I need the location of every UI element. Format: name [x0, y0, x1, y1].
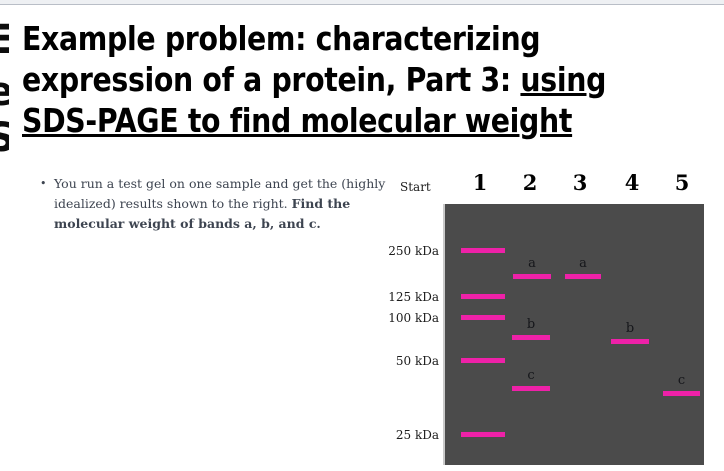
title-line-3: SDS-PAGE to find molecular weight: [22, 100, 615, 141]
slide-canvas: E e S • Example problem: characterizing …: [0, 6, 724, 471]
band-letter-b-lane4: b: [611, 322, 649, 335]
window-top-strip: [0, 0, 724, 5]
sliver-mark-2: e: [0, 72, 9, 112]
sds-page-gel-figure: Start 1 2 3 4 5 250 kDa 125 kDa 100 kDa …: [386, 166, 716, 466]
band-letter-c-lane2: c: [512, 369, 550, 382]
sample-band-c-lane5: [663, 391, 700, 396]
ladder-label-25kda: 25 kDa: [396, 429, 439, 441]
ladder-label-125kda: 125 kDa: [388, 291, 439, 303]
ladder-band-250kda: [461, 248, 505, 253]
slide-title: Example problem: characterizing expressi…: [22, 18, 615, 141]
lane-number-1: 1: [467, 170, 493, 196]
adjacent-slide-sliver: E e S •: [0, 6, 9, 471]
title-line-3-underlined: SDS-PAGE to find molecular weight: [22, 101, 572, 140]
sample-band-c-lane2: [512, 386, 550, 391]
sample-band-b-lane4: [611, 339, 649, 344]
sample-band-b-lane2: [512, 335, 550, 340]
lane-number-row: 1 2 3 4 5: [443, 170, 711, 196]
sample-band-a-lane2: [513, 274, 551, 279]
title-line-1: Example problem: characterizing: [22, 18, 615, 59]
ladder-band-125kda: [461, 294, 505, 299]
ladder-band-50kda: [461, 358, 505, 363]
sliver-mark-3: S: [0, 118, 9, 158]
ladder-band-100kda: [461, 315, 505, 320]
lane-number-3: 3: [567, 170, 593, 196]
lane-number-2: 2: [517, 170, 543, 196]
ladder-label-250kda: 250 kDa: [388, 245, 439, 257]
bullet-item-text: You run a test gel on one sample and get…: [54, 174, 390, 234]
ladder-band-25kda: [461, 432, 505, 437]
band-letter-a-lane3: a: [565, 257, 601, 270]
band-letter-a-lane2: a: [513, 257, 551, 270]
band-letter-c-lane5: c: [663, 374, 700, 387]
molecular-weight-axis: 250 kDa 125 kDa 100 kDa 50 kDa 25 kDa: [386, 166, 443, 466]
title-line-2-underlined: using: [520, 60, 606, 99]
sample-band-a-lane3: [565, 274, 601, 279]
ladder-label-50kda: 50 kDa: [396, 355, 439, 367]
title-line-2: expression of a protein, Part 3: using: [22, 59, 615, 100]
sliver-mark-1: E: [0, 20, 9, 60]
body-bullet-list: • You run a test gel on one sample and g…: [40, 174, 390, 234]
ladder-label-100kda: 100 kDa: [388, 312, 439, 324]
lane-number-4: 4: [619, 170, 645, 196]
lane-number-5: 5: [669, 170, 695, 196]
bullet-item: • You run a test gel on one sample and g…: [40, 174, 390, 234]
bullet-marker-icon: •: [40, 174, 54, 234]
title-line-2-plain: expression of a protein, Part 3:: [22, 60, 520, 99]
band-letter-b-lane2: b: [512, 318, 550, 331]
gel-plate: a a b b c c: [443, 204, 704, 465]
